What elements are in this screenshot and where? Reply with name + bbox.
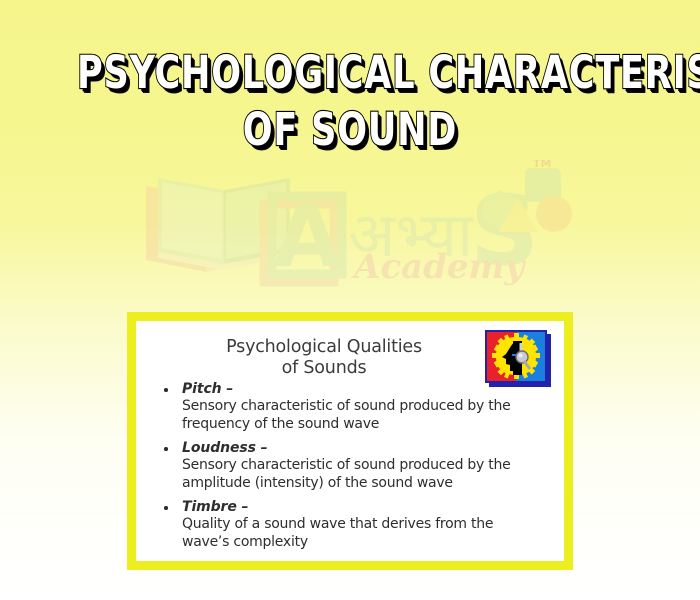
- letter-a-box-shadow: [264, 204, 334, 282]
- green-hexagon-shape: [483, 190, 517, 229]
- bullet-list: Pitch – Sensory characteristic of sound …: [158, 381, 544, 551]
- slide-heading-line-2: of Sounds: [176, 358, 472, 379]
- bullet-dot-icon: [164, 447, 168, 451]
- green-square-shape: [525, 168, 561, 202]
- watermark-devanagari-text: अभ्या: [348, 198, 474, 271]
- page-title: PSYCHOLOGICAL CHARACTERISTICS OF SOUND: [0, 44, 700, 158]
- trademark-text: TM: [533, 160, 551, 170]
- bullet-term: Pitch –: [182, 381, 544, 398]
- orange-circle-shape: [536, 196, 572, 232]
- open-book-icon: [158, 178, 290, 270]
- slide-heading: Psychological Qualities of Sounds: [176, 337, 472, 379]
- bullet-description: Quality of a sound wave that derives fro…: [182, 516, 534, 551]
- abhyas-academy-watermark: A अभ्या S Academy TM: [140, 160, 600, 295]
- letter-a-box-icon: A: [272, 187, 342, 287]
- watermark-academy-text: Academy: [351, 247, 526, 287]
- bullet-dot-icon: [164, 506, 168, 510]
- sound-icon-graphic: [484, 329, 552, 387]
- content-card-inner: Psychological Qualities of Sounds Pitch …: [136, 321, 564, 561]
- svg-text:A: A: [274, 187, 341, 287]
- yellow-triangle-shape: [498, 198, 538, 232]
- slide-page: A अभ्या S Academy TM PSYCHOLOGICAL CHARA…: [0, 0, 700, 600]
- title-line-1: PSYCHOLOGICAL CHARACTERISTICS: [77, 44, 623, 101]
- sound-perception-icon: [484, 329, 552, 387]
- title-line-2: OF SOUND: [77, 101, 623, 158]
- book-shadow-icon: [146, 186, 268, 272]
- bullet-dot-icon: [164, 388, 168, 392]
- list-item: Timbre – Quality of a sound wave that de…: [158, 499, 544, 551]
- list-item: Pitch – Sensory characteristic of sound …: [158, 381, 544, 433]
- watermark-s-letter: S: [470, 175, 539, 287]
- list-item: Loudness – Sensory characteristic of sou…: [158, 440, 544, 492]
- watermark-shapes: TM: [483, 160, 572, 232]
- content-card: Psychological Qualities of Sounds Pitch …: [127, 312, 573, 570]
- bullet-description: Sensory characteristic of sound produced…: [182, 398, 534, 433]
- bullet-term: Loudness –: [182, 440, 544, 457]
- slide-heading-line-1: Psychological Qualities: [176, 337, 472, 358]
- watermark-graphic: A अभ्या S Academy TM: [140, 160, 600, 295]
- bullet-description: Sensory characteristic of sound produced…: [182, 457, 534, 492]
- bullet-term: Timbre –: [182, 499, 544, 516]
